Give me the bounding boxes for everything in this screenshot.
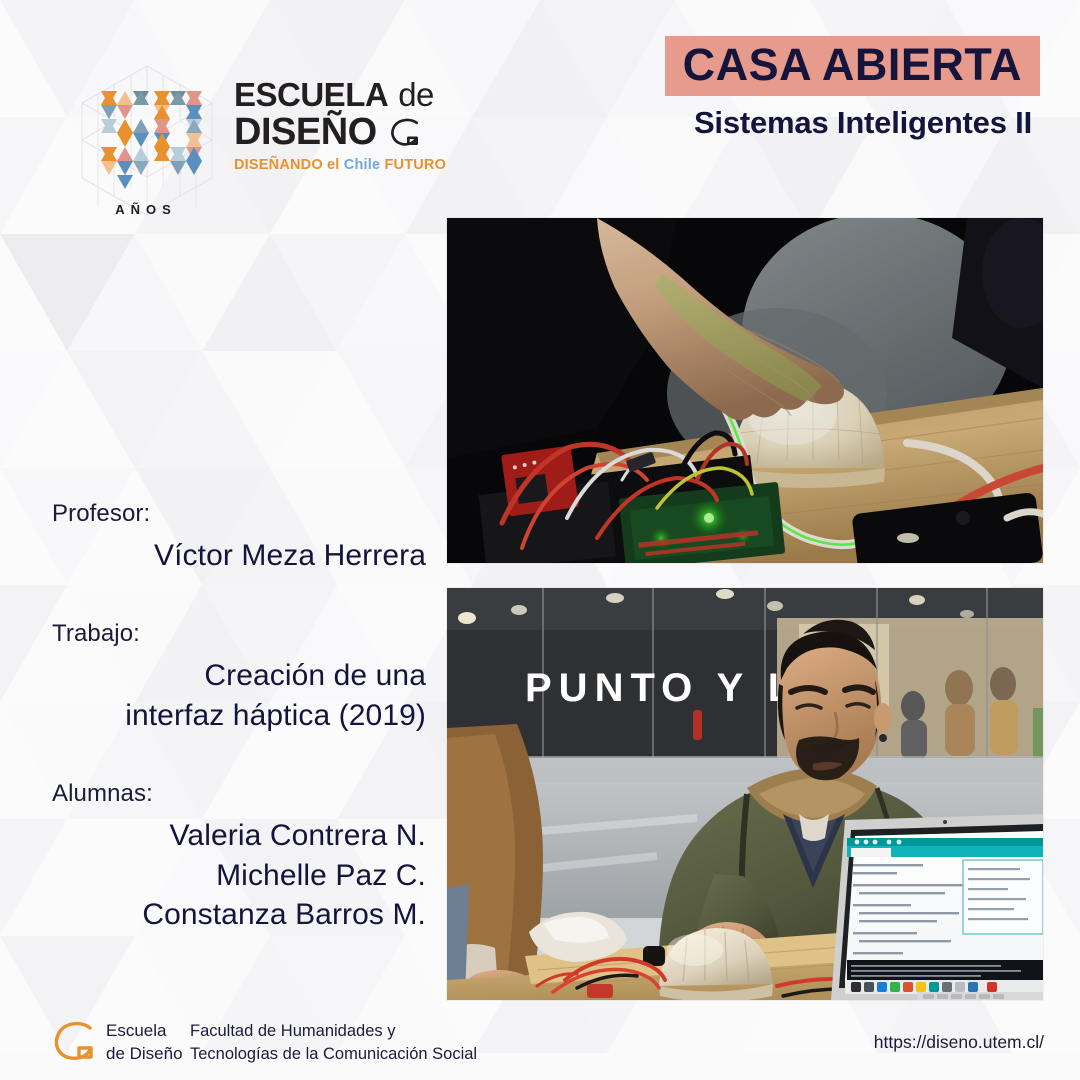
photo-demo-at-exhibition: PUNTO Y LÍN xyxy=(447,588,1043,1000)
info-group-trabajo: Trabajo: Creación de una interfaz háptic… xyxy=(0,620,440,736)
info-value-alumnas-1: Michelle Paz C. xyxy=(0,856,440,896)
page-title: CASA ABIERTA xyxy=(683,39,1022,90)
wordmark-tagline: DISEÑANDO el Chile FUTURO xyxy=(234,157,534,173)
poster-canvas: AÑOS ESCUELAde DISEÑO DISEÑANDO el Chile… xyxy=(0,0,1080,1080)
footer-website-url[interactable]: https://diseno.utem.cl/ xyxy=(874,1032,1044,1053)
info-value-alumnas-0: Valeria Contrera N. xyxy=(0,816,440,856)
info-value-trabajo-0: Creación de una xyxy=(0,656,440,696)
photo-haptic-interface-closeup xyxy=(447,218,1043,563)
info-label-alumnas: Alumnas: xyxy=(0,780,440,808)
anniversary-years-label: AÑOS xyxy=(66,202,226,217)
info-label-trabajo: Trabajo: xyxy=(0,620,440,648)
title-block: CASA ABIERTA Sistemas Inteligentes II xyxy=(665,36,1040,141)
e-mark-icon xyxy=(385,112,425,152)
wordmark-line-escuela: ESCUELAde xyxy=(234,78,534,111)
wordmark-de: de xyxy=(398,76,434,113)
project-info: Profesor: Víctor Meza Herrera Trabajo: C… xyxy=(0,500,440,979)
tagline-disenando: DISEÑANDO xyxy=(234,157,323,173)
info-value-trabajo-1: interfaz háptica (2019) xyxy=(0,696,440,736)
footer-facultad-line2: Tecnologías de la Comunicación Social xyxy=(190,1043,477,1066)
footer-escuela-label: Escuela de Diseño xyxy=(106,1020,183,1065)
tagline-el: el xyxy=(327,157,340,173)
escuela-wordmark: ESCUELAde DISEÑO DISEÑANDO el Chile FUTU… xyxy=(234,78,534,173)
footer-facultad-line1: Facultad de Humanidades y xyxy=(190,1020,477,1043)
info-group-profesor: Profesor: Víctor Meza Herrera xyxy=(0,500,440,576)
footer-escuela-line1: Escuela xyxy=(106,1020,183,1043)
info-value-profesor-0: Víctor Meza Herrera xyxy=(0,536,440,576)
escuela-de-diseno-logo: AÑOS ESCUELAde DISEÑO DISEÑANDO el Chile… xyxy=(52,62,452,237)
footer: Escuela de Diseño Facultad de Humanidade… xyxy=(0,1002,1080,1080)
page-subtitle: Sistemas Inteligentes II xyxy=(665,105,1032,141)
info-value-alumnas-2: Constanza Barros M. xyxy=(0,895,440,935)
footer-escuela-line2: de Diseño xyxy=(106,1043,183,1066)
wordmark-line-diseno: DISEÑO xyxy=(234,111,534,154)
casa-abierta-banner: CASA ABIERTA xyxy=(665,36,1040,96)
info-label-profesor: Profesor: xyxy=(0,500,440,528)
footer-facultad-label: Facultad de Humanidades y Tecnologías de… xyxy=(190,1020,477,1066)
footer-e-mark-icon xyxy=(48,1016,100,1066)
wordmark-diseno: DISEÑO xyxy=(234,111,377,154)
tagline-chile: Chile xyxy=(344,157,380,173)
tagline-futuro: FUTURO xyxy=(384,157,446,173)
wordmark-escuela: ESCUELA xyxy=(234,76,388,113)
info-group-alumnas: Alumnas: Valeria Contrera N. Michelle Pa… xyxy=(0,780,440,936)
